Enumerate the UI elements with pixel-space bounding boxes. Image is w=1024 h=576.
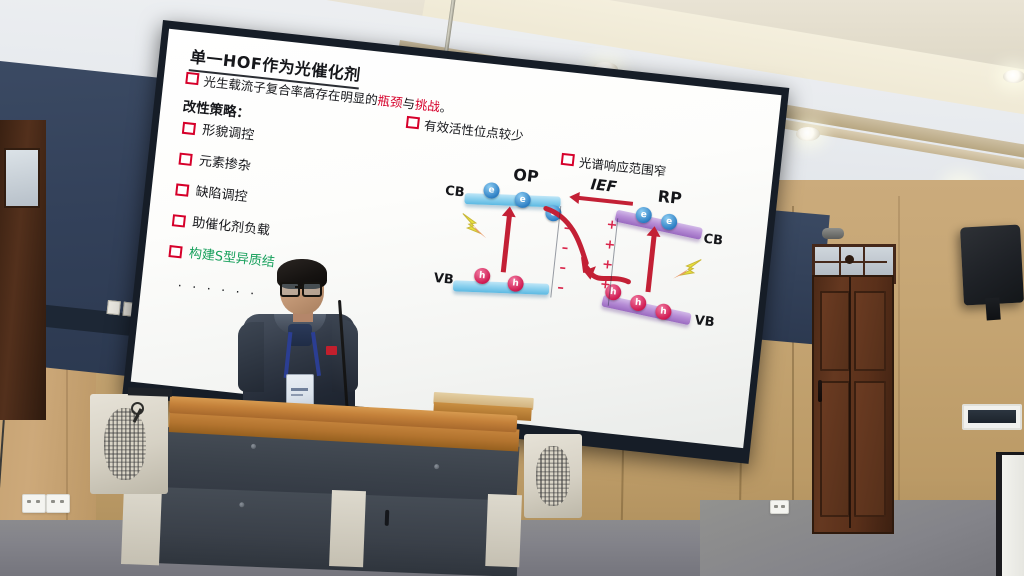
podium-base-pillar-middle: [329, 490, 366, 567]
headline-highlight-1: 瓶颈: [377, 93, 403, 111]
outlet-slot: [51, 500, 55, 503]
ceiling-downlight: [1003, 70, 1024, 83]
right-excitation-arrow-head: [647, 226, 662, 237]
strategy-item-3: 缺陷调控: [175, 178, 249, 205]
transom-center-knob: [845, 255, 854, 264]
lecture-hall-photo: 单一HOF作为光催化剂 光生载流子复合率高存在明显的瓶颈与挑战。 改性策略： 形…: [0, 0, 1024, 576]
transom-mullion-v: [839, 247, 841, 275]
red-square-bullet-icon: [185, 72, 199, 85]
red-square-bullet-icon: [406, 116, 420, 129]
outlet-slot: [781, 505, 785, 508]
outlet-slot: [27, 500, 31, 503]
door-panel: [854, 291, 886, 371]
wall-outlet[interactable]: [46, 494, 70, 513]
strategy-label-1: 形貌调控: [201, 119, 255, 144]
whiteboard: [996, 452, 1024, 576]
s-scheme-diagram: OP RP IEF CB e e e VB h h: [433, 156, 751, 372]
red-square-bullet-icon: [175, 183, 189, 196]
strategy-label-2: 元素掺杂: [198, 150, 252, 175]
wall-loudspeaker: [960, 224, 1024, 305]
panel-screw: [251, 444, 256, 449]
panel-screw: [239, 502, 244, 507]
right-excitation-arrow: [645, 234, 656, 292]
photon-bolt-icon: [458, 211, 495, 243]
outlet-slot: [36, 500, 40, 503]
podium: [84, 386, 594, 576]
podium-cabinet-top-trim: [128, 387, 172, 397]
diagram-label-right-vb: VB: [694, 313, 715, 330]
red-square-bullet-icon: [561, 153, 575, 166]
door-panel: [854, 381, 886, 517]
diagram-label-rp: RP: [657, 187, 683, 208]
headline-highlight-2: 挑战: [414, 97, 440, 115]
glasses-icon: [280, 282, 300, 297]
diagram-label-right-cb: CB: [703, 232, 724, 249]
strategy-label-4: 助催化剂负载: [191, 211, 271, 238]
right-bullet-label-1: 有效活性位点较少: [423, 115, 524, 145]
strategy-label-3: 缺陷调控: [195, 181, 249, 206]
speaker-mount-bracket: [985, 298, 1001, 321]
outlet-slot: [60, 500, 64, 503]
screen-clip: [107, 300, 121, 315]
glasses-icon: [302, 282, 322, 297]
door-handle[interactable]: [818, 380, 822, 402]
jacket-logo: [326, 346, 337, 355]
wall-outlet[interactable]: [22, 494, 46, 513]
wall-seam: [898, 196, 900, 526]
door-center-seam: [849, 277, 851, 528]
transom-mullion-v: [863, 247, 865, 275]
red-square-bullet-icon: [178, 153, 192, 166]
side-door-window: [4, 148, 40, 208]
left-excitation-arrow-head: [502, 206, 517, 217]
strategy-item-2: 元素掺杂: [178, 148, 252, 175]
glasses-bridge: [295, 286, 302, 288]
diagram-label-left-vb: VB: [433, 271, 454, 288]
red-square-bullet-icon: [182, 122, 196, 135]
podium-left-speaker-grille: [104, 408, 146, 480]
outlet-slot: [774, 505, 778, 508]
podium-right-speaker-grille: [536, 446, 570, 506]
door-panel: [820, 381, 850, 517]
ceiling-downlight: [796, 127, 820, 141]
diagram-label-left-cb: CB: [444, 184, 465, 201]
podium-base-pillar-right: [485, 494, 522, 567]
diagram-label-op: OP: [512, 165, 539, 187]
wall-outlet[interactable]: [770, 500, 789, 514]
panel-screw: [434, 464, 439, 469]
rear-double-door[interactable]: [812, 275, 894, 534]
podium-base-panel: [127, 486, 520, 576]
red-square-bullet-icon: [172, 214, 186, 227]
door-panel: [820, 291, 850, 371]
headline-middle: 存在明显的: [315, 86, 379, 108]
base-handle: [385, 510, 390, 526]
headline-suffix: 。: [439, 99, 453, 115]
strategy-item-4: 助催化剂负载: [172, 209, 271, 238]
electrical-panel-box: [962, 404, 1022, 430]
ceiling-camera: [822, 228, 844, 239]
left-excitation-arrow: [501, 214, 512, 272]
photon-bolt-icon: [667, 254, 704, 286]
presenter-left-shoulder: [238, 322, 264, 392]
podium-base-pillar-left: [121, 486, 162, 565]
diagram-label-ief: IEF: [590, 175, 618, 196]
right-bullet-1: 有效活性位点较少: [405, 113, 524, 145]
red-square-bullet-icon: [168, 245, 182, 258]
panel-box-vent: [968, 410, 1016, 423]
